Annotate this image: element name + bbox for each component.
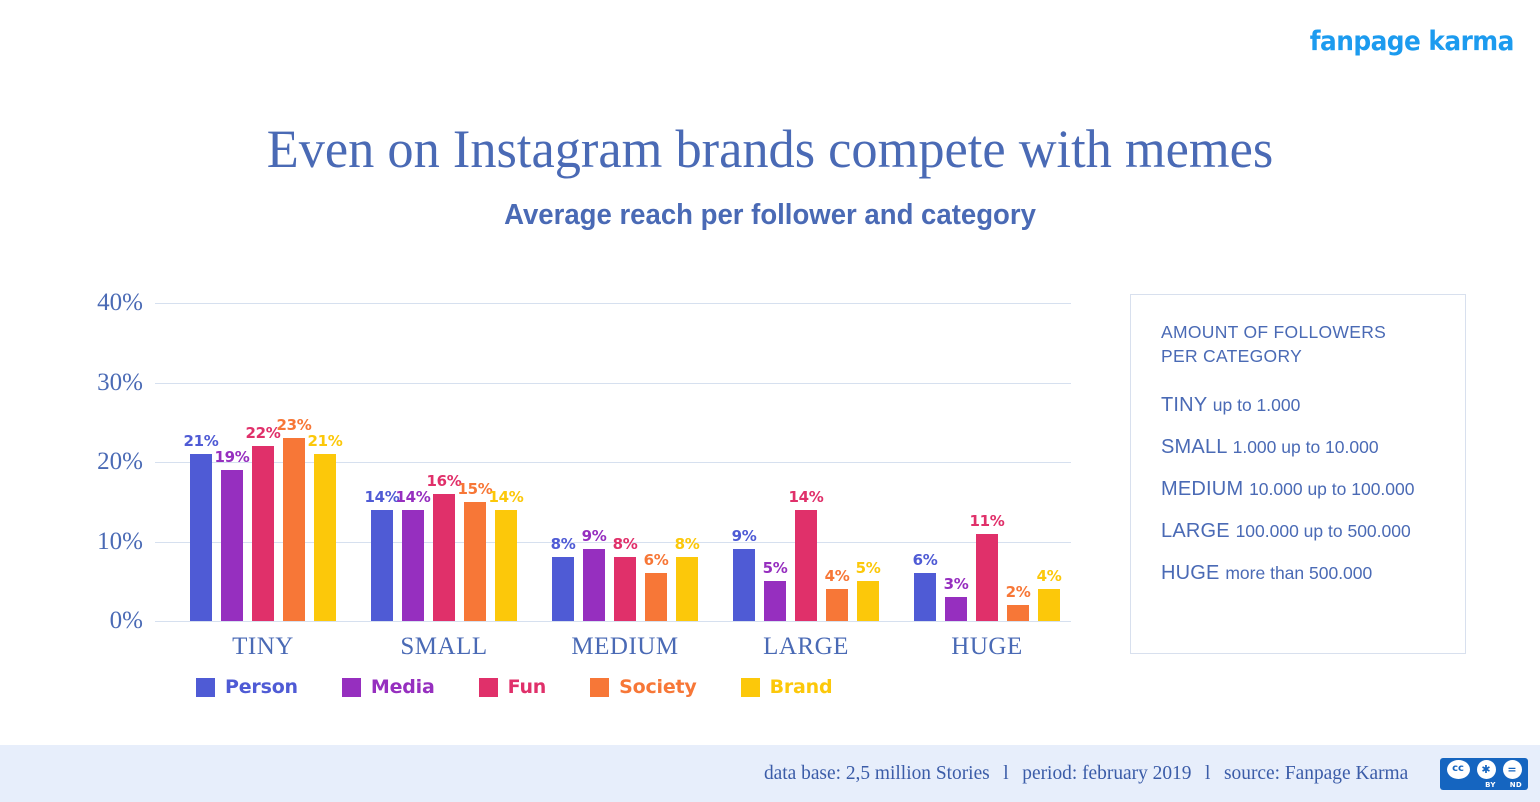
bar-fun-small[interactable]: 16%	[433, 494, 455, 621]
bar-person-huge[interactable]: 6%	[914, 573, 936, 621]
creative-commons-badge[interactable]: cc ✱ = BY ND	[1440, 758, 1528, 790]
bar-fun-tiny[interactable]: 22%	[252, 446, 274, 621]
bar-value-label: 9%	[582, 527, 607, 545]
legend-swatch-icon	[590, 678, 609, 697]
legend-item-fun[interactable]: Fun	[479, 676, 547, 698]
gridline	[155, 542, 1071, 543]
gridline	[155, 383, 1071, 384]
info-row-medium: MEDIUM 10.000 up to 100.000	[1161, 478, 1465, 501]
legend-item-person[interactable]: Person	[196, 676, 298, 698]
bar-person-tiny[interactable]: 21%	[190, 454, 212, 621]
bar-value-label: 15%	[457, 480, 492, 498]
bar-brand-large[interactable]: 5%	[857, 581, 879, 621]
footer-separator-2: l	[1196, 762, 1219, 784]
bar-value-label: 23%	[276, 416, 311, 434]
page-subtitle: Average reach per follower and category	[39, 199, 1502, 232]
cc-badge-icons: cc ✱ =	[1440, 758, 1528, 781]
bar-society-small[interactable]: 15%	[464, 502, 486, 621]
cc-badge-labels: BY ND	[1440, 781, 1528, 790]
y-axis-tick-label: 0%	[85, 607, 143, 635]
chart-legend: PersonMediaFunSocietyBrand	[196, 676, 876, 698]
footer-database: data base: 2,5 million Stories	[764, 762, 990, 784]
bar-value-label: 3%	[944, 575, 969, 593]
info-row-range: 100.000 up to 500.000	[1236, 521, 1411, 541]
cc-nd-label: ND	[1510, 781, 1522, 789]
bar-value-label: 21%	[183, 432, 218, 450]
footer-source: source: Fanpage Karma	[1224, 762, 1408, 784]
legend-label: Society	[619, 676, 696, 698]
bar-value-label: 11%	[969, 512, 1004, 530]
bar-media-huge[interactable]: 3%	[945, 597, 967, 621]
footer-period: period: february 2019	[1022, 762, 1191, 784]
bar-fun-huge[interactable]: 11%	[976, 534, 998, 621]
x-axis-label-tiny: TINY	[232, 633, 294, 661]
info-row-category: SMALL	[1161, 436, 1233, 458]
fanpage-karma-logo: fanpage karma	[1310, 28, 1514, 55]
bar-value-label: 14%	[488, 488, 523, 506]
legend-item-media[interactable]: Media	[342, 676, 435, 698]
bar-value-label: 6%	[913, 551, 938, 569]
y-axis-tick-label: 30%	[85, 369, 143, 397]
bar-society-huge[interactable]: 2%	[1007, 605, 1029, 621]
info-row-range: up to 1.000	[1213, 395, 1301, 415]
footer-bar: data base: 2,5 million Stories l period:…	[0, 745, 1540, 802]
bar-brand-small[interactable]: 14%	[495, 510, 517, 621]
bar-person-medium[interactable]: 8%	[552, 557, 574, 621]
info-row-small: SMALL 1.000 up to 10.000	[1161, 436, 1465, 459]
legend-label: Brand	[770, 676, 833, 698]
bar-group-tiny: 21%19%22%23%21%TINY	[190, 303, 336, 621]
bar-value-label: 4%	[1037, 567, 1062, 585]
bar-value-label: 8%	[675, 535, 700, 553]
info-row-category: HUGE	[1161, 562, 1225, 584]
cc-by-label: BY	[1485, 781, 1496, 789]
bar-value-label: 22%	[245, 424, 280, 442]
bar-media-tiny[interactable]: 19%	[221, 470, 243, 621]
bar-value-label: 5%	[856, 559, 881, 577]
bar-person-large[interactable]: 9%	[733, 549, 755, 621]
legend-label: Fun	[508, 676, 547, 698]
info-row-category: TINY	[1161, 394, 1213, 416]
bar-value-label: 2%	[1006, 583, 1031, 601]
x-axis-label-large: LARGE	[763, 633, 849, 661]
followers-info-panel: AMOUNT OF FOLLOWERS PER CATEGORY TINY up…	[1130, 294, 1466, 654]
legend-label: Media	[371, 676, 435, 698]
bar-value-label: 14%	[395, 488, 430, 506]
info-row-huge: HUGE more than 500.000	[1161, 562, 1465, 585]
page-title: Even on Instagram brands compete with me…	[23, 118, 1517, 180]
bar-value-label: 5%	[763, 559, 788, 577]
gridline	[155, 621, 1071, 622]
x-axis-label-huge: HUGE	[951, 633, 1022, 661]
bar-fun-medium[interactable]: 8%	[614, 557, 636, 621]
bar-person-small[interactable]: 14%	[371, 510, 393, 621]
legend-label: Person	[225, 676, 298, 698]
bar-group-large: 9%5%14%4%5%LARGE	[733, 303, 879, 621]
bar-value-label: 8%	[551, 535, 576, 553]
bar-brand-medium[interactable]: 8%	[676, 557, 698, 621]
info-panel-rows: TINY up to 1.000SMALL 1.000 up to 10.000…	[1161, 394, 1465, 585]
x-axis-label-medium: MEDIUM	[571, 633, 678, 661]
bar-group-medium: 8%9%8%6%8%MEDIUM	[552, 303, 698, 621]
legend-item-brand[interactable]: Brand	[741, 676, 833, 698]
info-panel-heading: AMOUNT OF FOLLOWERS PER CATEGORY	[1161, 321, 1465, 368]
bar-brand-tiny[interactable]: 21%	[314, 454, 336, 621]
legend-swatch-icon	[342, 678, 361, 697]
bar-chart: 0%10%20%30%40% 21%19%22%23%21%TINY14%14%…	[155, 303, 1071, 621]
x-axis-label-small: SMALL	[400, 633, 487, 661]
y-axis-tick-label: 10%	[85, 528, 143, 556]
bar-fun-large[interactable]: 14%	[795, 510, 817, 621]
footer-separator-1: l	[994, 762, 1017, 784]
footer-meta: data base: 2,5 million Stories l period:…	[764, 762, 1408, 785]
bar-media-medium[interactable]: 9%	[583, 549, 605, 621]
y-axis-tick-label: 40%	[85, 289, 143, 317]
gridline	[155, 462, 1071, 463]
cc-nd-equals-icon: =	[1503, 760, 1522, 779]
info-row-range: more than 500.000	[1225, 563, 1372, 583]
bar-media-large[interactable]: 5%	[764, 581, 786, 621]
legend-swatch-icon	[196, 678, 215, 697]
bar-group-huge: 6%3%11%2%4%HUGE	[914, 303, 1060, 621]
legend-item-society[interactable]: Society	[590, 676, 696, 698]
info-row-tiny: TINY up to 1.000	[1161, 394, 1465, 417]
bar-value-label: 21%	[307, 432, 342, 450]
bar-media-small[interactable]: 14%	[402, 510, 424, 621]
legend-swatch-icon	[479, 678, 498, 697]
info-row-range: 1.000 up to 10.000	[1233, 437, 1379, 457]
bar-value-label: 8%	[613, 535, 638, 553]
bar-group-small: 14%14%16%15%14%SMALL	[371, 303, 517, 621]
bar-value-label: 14%	[364, 488, 399, 506]
y-axis-tick-label: 20%	[85, 448, 143, 476]
cc-icon: cc	[1447, 760, 1470, 779]
info-row-large: LARGE 100.000 up to 500.000	[1161, 520, 1465, 543]
legend-swatch-icon	[741, 678, 760, 697]
bar-value-label: 9%	[732, 527, 757, 545]
bar-value-label: 16%	[426, 472, 461, 490]
bar-value-label: 19%	[214, 448, 249, 466]
cc-by-person-icon: ✱	[1477, 760, 1496, 779]
bar-value-label: 14%	[788, 488, 823, 506]
bar-society-large[interactable]: 4%	[826, 589, 848, 621]
info-row-category: MEDIUM	[1161, 478, 1249, 500]
bar-society-tiny[interactable]: 23%	[283, 438, 305, 621]
bar-value-label: 4%	[825, 567, 850, 585]
bar-value-label: 6%	[644, 551, 669, 569]
info-row-range: 10.000 up to 100.000	[1249, 479, 1414, 499]
gridline	[155, 303, 1071, 304]
bar-brand-huge[interactable]: 4%	[1038, 589, 1060, 621]
info-row-category: LARGE	[1161, 520, 1236, 542]
bar-society-medium[interactable]: 6%	[645, 573, 667, 621]
